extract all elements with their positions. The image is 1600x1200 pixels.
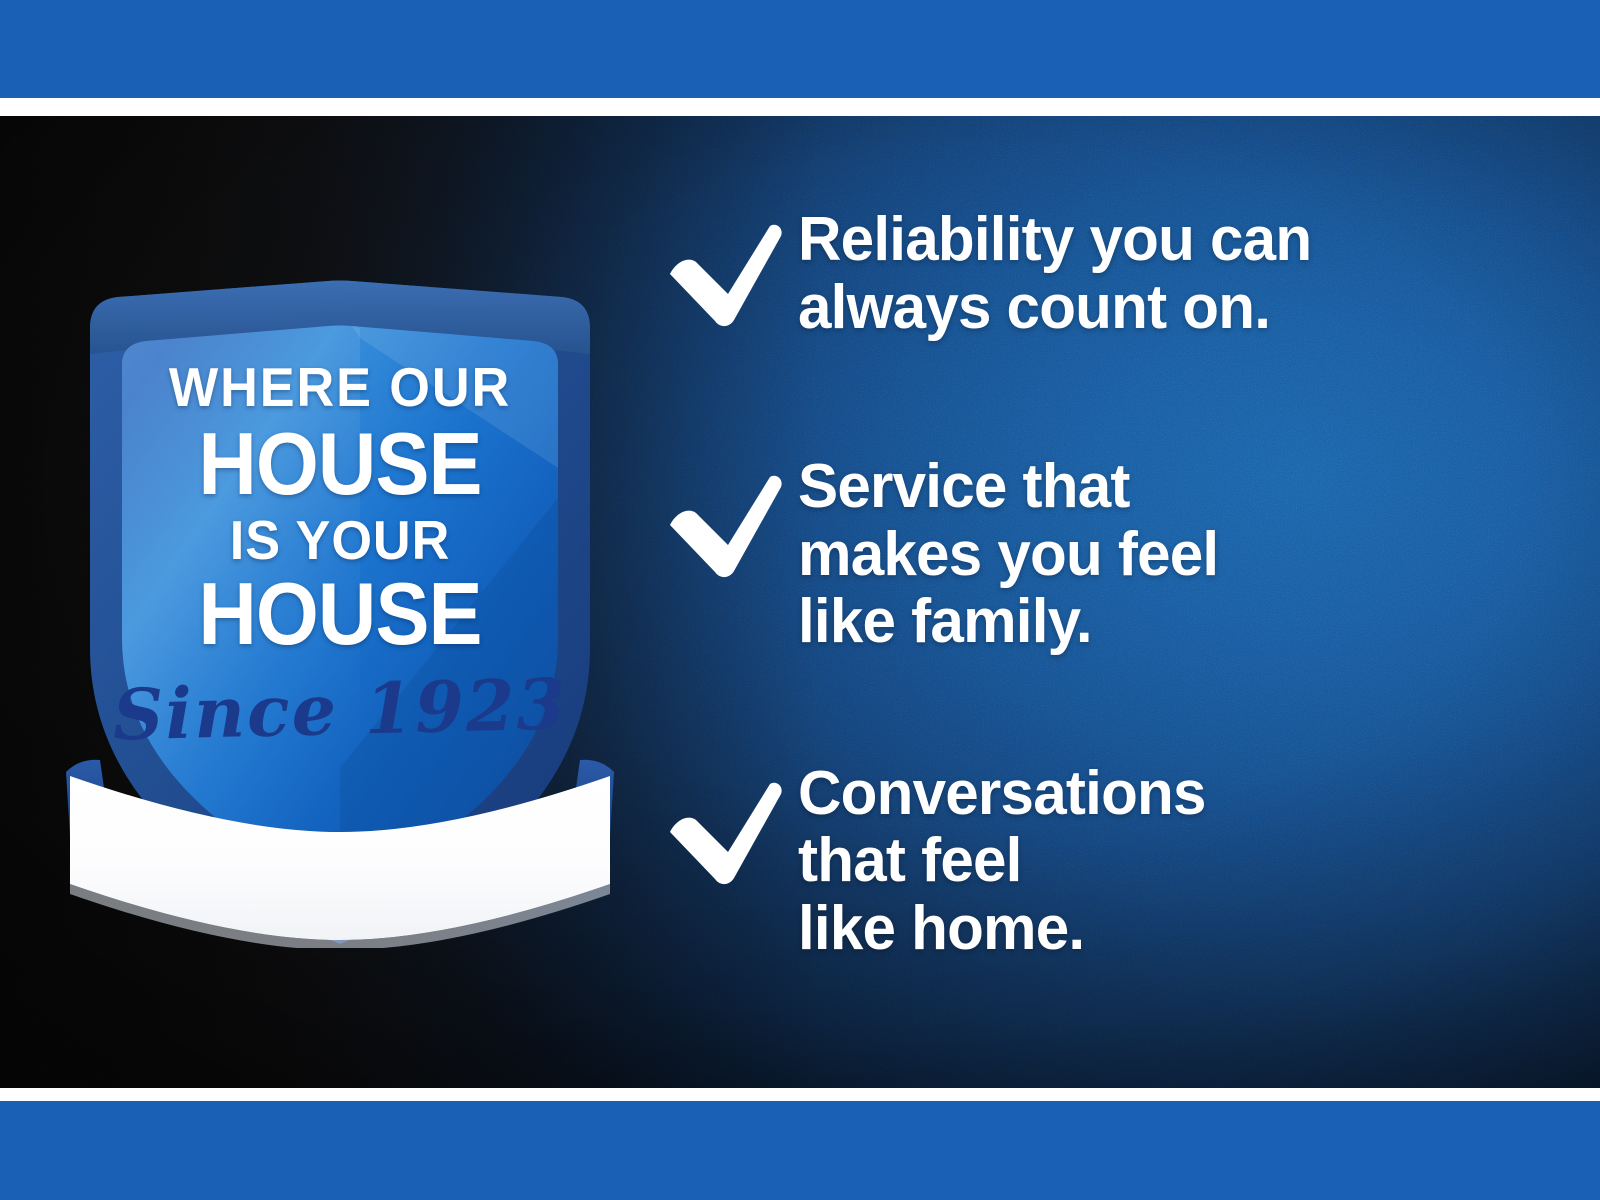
bottom-brand-bar <box>0 1101 1600 1200</box>
benefit-line: like home. <box>798 895 1206 963</box>
top-brand-bar <box>0 0 1600 98</box>
benefit-item-conversations: Conversations that feel like home. <box>666 760 1476 963</box>
benefit-item-service: Service that makes you feel like family. <box>666 453 1476 656</box>
benefit-line: Conversations <box>798 760 1206 828</box>
badge-tagline-line-2: HOUSE <box>82 420 597 508</box>
benefit-item-reliability: Reliability you can always count on. <box>666 206 1476 341</box>
checkmark-icon <box>666 222 784 328</box>
benefit-text-service: Service that makes you feel like family. <box>798 453 1218 656</box>
benefit-line: always count on. <box>798 274 1311 342</box>
benefit-line: Reliability you can <box>798 206 1311 274</box>
benefit-text-conversations: Conversations that feel like home. <box>798 760 1206 963</box>
badge-tagline-line-4: HOUSE <box>82 570 597 658</box>
badge-tagline-line-1: WHERE OUR <box>74 360 606 415</box>
badge-tagline-line-3: IS YOUR <box>74 513 606 568</box>
benefit-line: makes you feel <box>798 521 1218 589</box>
benefit-text-reliability: Reliability you can always count on. <box>798 206 1311 341</box>
checkmark-icon <box>666 473 784 579</box>
checkmark-icon-wrap-0 <box>666 206 798 333</box>
checkmark-icon-wrap-1 <box>666 453 798 584</box>
checkmark-icon <box>666 780 784 886</box>
promo-graphic: WHERE OUR HOUSE IS YOUR HOUSE Since 1923… <box>0 0 1600 1200</box>
benefit-line: like family. <box>798 588 1218 656</box>
shield-badge: WHERE OUR HOUSE IS YOUR HOUSE Since 1923 <box>60 168 620 948</box>
benefit-line: Service that <box>798 453 1218 521</box>
benefit-line: that feel <box>798 827 1206 895</box>
checkmark-icon-wrap-2 <box>666 760 798 891</box>
badge-ribbon-text: Since 1923 <box>59 661 621 758</box>
benefits-list: Reliability you can always count on. Ser… <box>666 206 1476 963</box>
